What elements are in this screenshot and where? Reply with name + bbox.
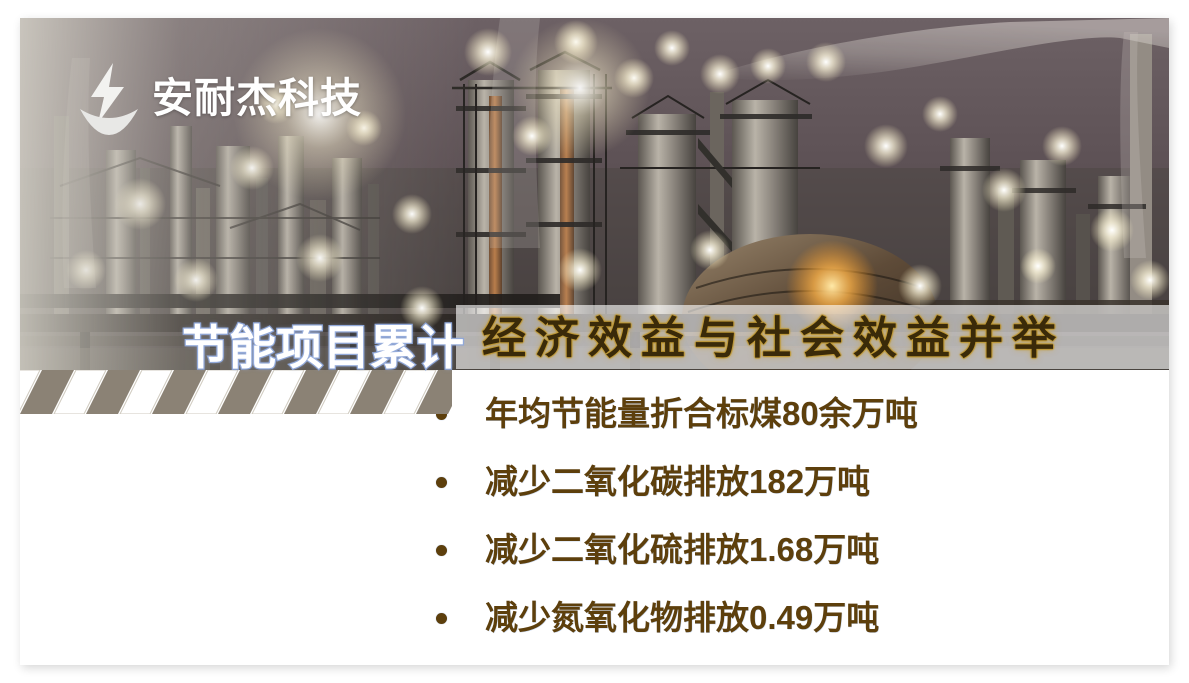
bullet-dot-icon [432, 477, 451, 488]
list-item-label: 减少二氧化硫排放1.68万吨 [485, 532, 879, 568]
list-item-label: 减少二氧化碳排放182万吨 [485, 464, 870, 500]
list-item: 减少二氧化碳排放182万吨 [432, 448, 1152, 516]
list-item: 减少氮氧化物排放0.49万吨 [432, 584, 1152, 652]
brand-name: 安耐杰科技 [152, 78, 362, 119]
list-item: 减少二氧化硫排放1.68万吨 [432, 516, 1152, 584]
page-title: 经济效益与社会效益并举 [482, 315, 1065, 363]
slide-card: 安耐杰科技 节能项目累计 经济效益与社会效益并举 [20, 18, 1169, 665]
list-item-label: 年均节能量折合标煤80余万吨 [485, 396, 918, 432]
list-item: 年均节能量折合标煤80余万吨 [432, 380, 1152, 448]
lightning-bolt-chevron-icon [80, 61, 138, 135]
brand-logo: 安耐杰科技 [80, 58, 362, 138]
benefits-list: 年均节能量折合标煤80余万吨 减少二氧化碳排放182万吨 减少二氧化硫排放1.6… [432, 380, 1152, 652]
diagonal-stripe-divider [20, 370, 452, 414]
bullet-dot-icon [432, 545, 451, 556]
headline-left-label: 节能项目累计 [182, 324, 464, 371]
bullet-dot-icon [432, 613, 451, 624]
slide-root: 安耐杰科技 节能项目累计 经济效益与社会效益并举 [0, 0, 1189, 683]
list-item-label: 减少氮氧化物排放0.49万吨 [485, 600, 879, 636]
